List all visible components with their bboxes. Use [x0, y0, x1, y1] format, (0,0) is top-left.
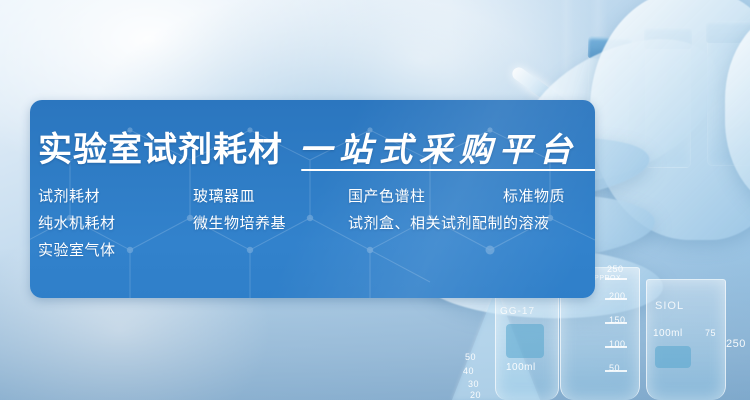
info-panel: 实验室试剂耗材 一站式采购平台 试剂耗材 玻璃器皿 国产色谱柱 标准物质 纯水机…: [30, 100, 595, 298]
category-item-microbial-culture-media[interactable]: 微生物培养基: [193, 210, 286, 237]
beaker-capacity-250: 250: [607, 264, 624, 274]
category-item-reagent-consumables[interactable]: 试剂耗材: [38, 183, 100, 210]
category-item-domestic-chromatography-column[interactable]: 国产色谱柱: [348, 183, 426, 210]
category-item-reagent-kits-solutions[interactable]: 试剂盒、相关试剂配制的溶液: [348, 210, 550, 237]
beaker-mark-150: 150: [609, 315, 626, 325]
beaker-liquid: [655, 346, 691, 368]
beaker-mark-250-right: 250: [726, 338, 746, 350]
beaker-volume-label: 100ml: [506, 362, 536, 373]
title-main-text: 实验室试剂耗材: [38, 122, 283, 171]
title-underline: [301, 169, 595, 171]
beaker-liquid: [506, 324, 544, 358]
category-item-glassware[interactable]: 玻璃器皿: [193, 183, 255, 210]
beaker-brand-label: GG-17: [500, 306, 535, 317]
title-sub-text: 一站式采购平台: [299, 130, 579, 169]
flask-graduation-40: 40: [463, 366, 474, 376]
flask-graduation-50: 50: [465, 352, 476, 362]
beaker-left: GG-17 100ml: [495, 281, 559, 400]
beaker-mark-50: 50: [609, 363, 620, 373]
beaker-mark-75: 75: [705, 328, 716, 338]
beaker-mark-100: 100: [609, 339, 626, 349]
title-sub-wrapper: 一站式采购平台: [299, 123, 579, 171]
category-item-water-purifier-consumables[interactable]: 纯水机耗材: [38, 210, 116, 237]
flask-graduation-30: 30: [468, 379, 479, 389]
beaker-mark-200: 200: [609, 291, 626, 301]
beaker-volume-100ml: 100ml: [653, 328, 683, 339]
panel-title: 实验室试剂耗材 一站式采购平台: [38, 122, 579, 171]
promo-banner: 8.5 1.5 50 40 30 20 GG-17 100ml 250 APPR…: [0, 0, 750, 400]
beaker-right: SIOL 100ml 75: [646, 279, 726, 400]
category-item-laboratory-gases[interactable]: 实验室气体: [38, 237, 116, 264]
beaker-brand-2-label: SIOL: [655, 300, 684, 312]
category-item-reference-material[interactable]: 标准物质: [503, 183, 565, 210]
flask-graduation-20: 20: [470, 390, 481, 400]
